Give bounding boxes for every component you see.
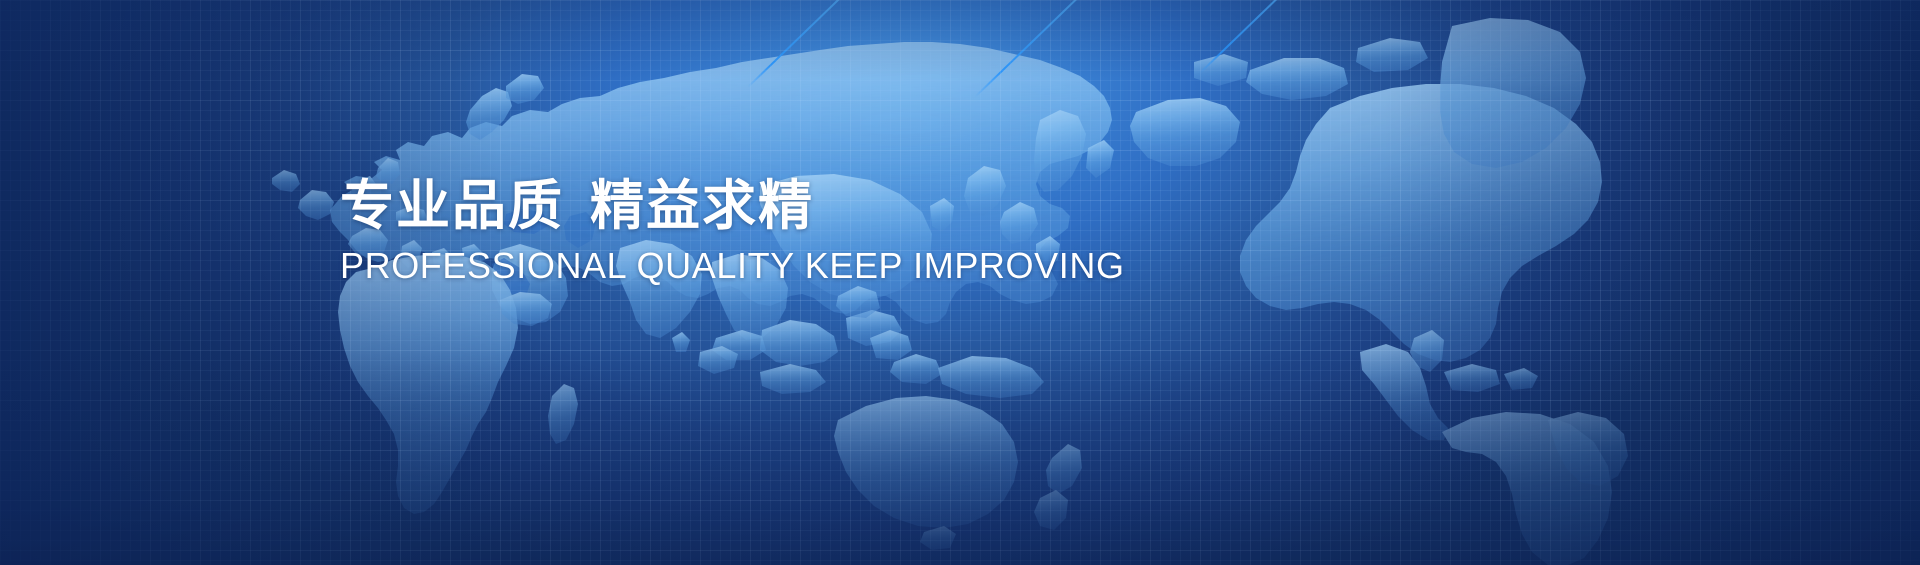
subheadline-english: PROFESSIONAL QUALITY KEEP IMPROVING [340,246,1125,286]
headline-chinese-part-2: 精益求精 [590,174,814,237]
headline-chinese: 专业品质精益求精 [340,176,1125,235]
hero-banner: 专业品质精益求精 PROFESSIONAL QUALITY KEEP IMPRO… [0,0,1920,565]
headline-chinese-part-1: 专业品质 [340,174,564,237]
banner-copy: 专业品质精益求精 PROFESSIONAL QUALITY KEEP IMPRO… [340,176,1125,287]
